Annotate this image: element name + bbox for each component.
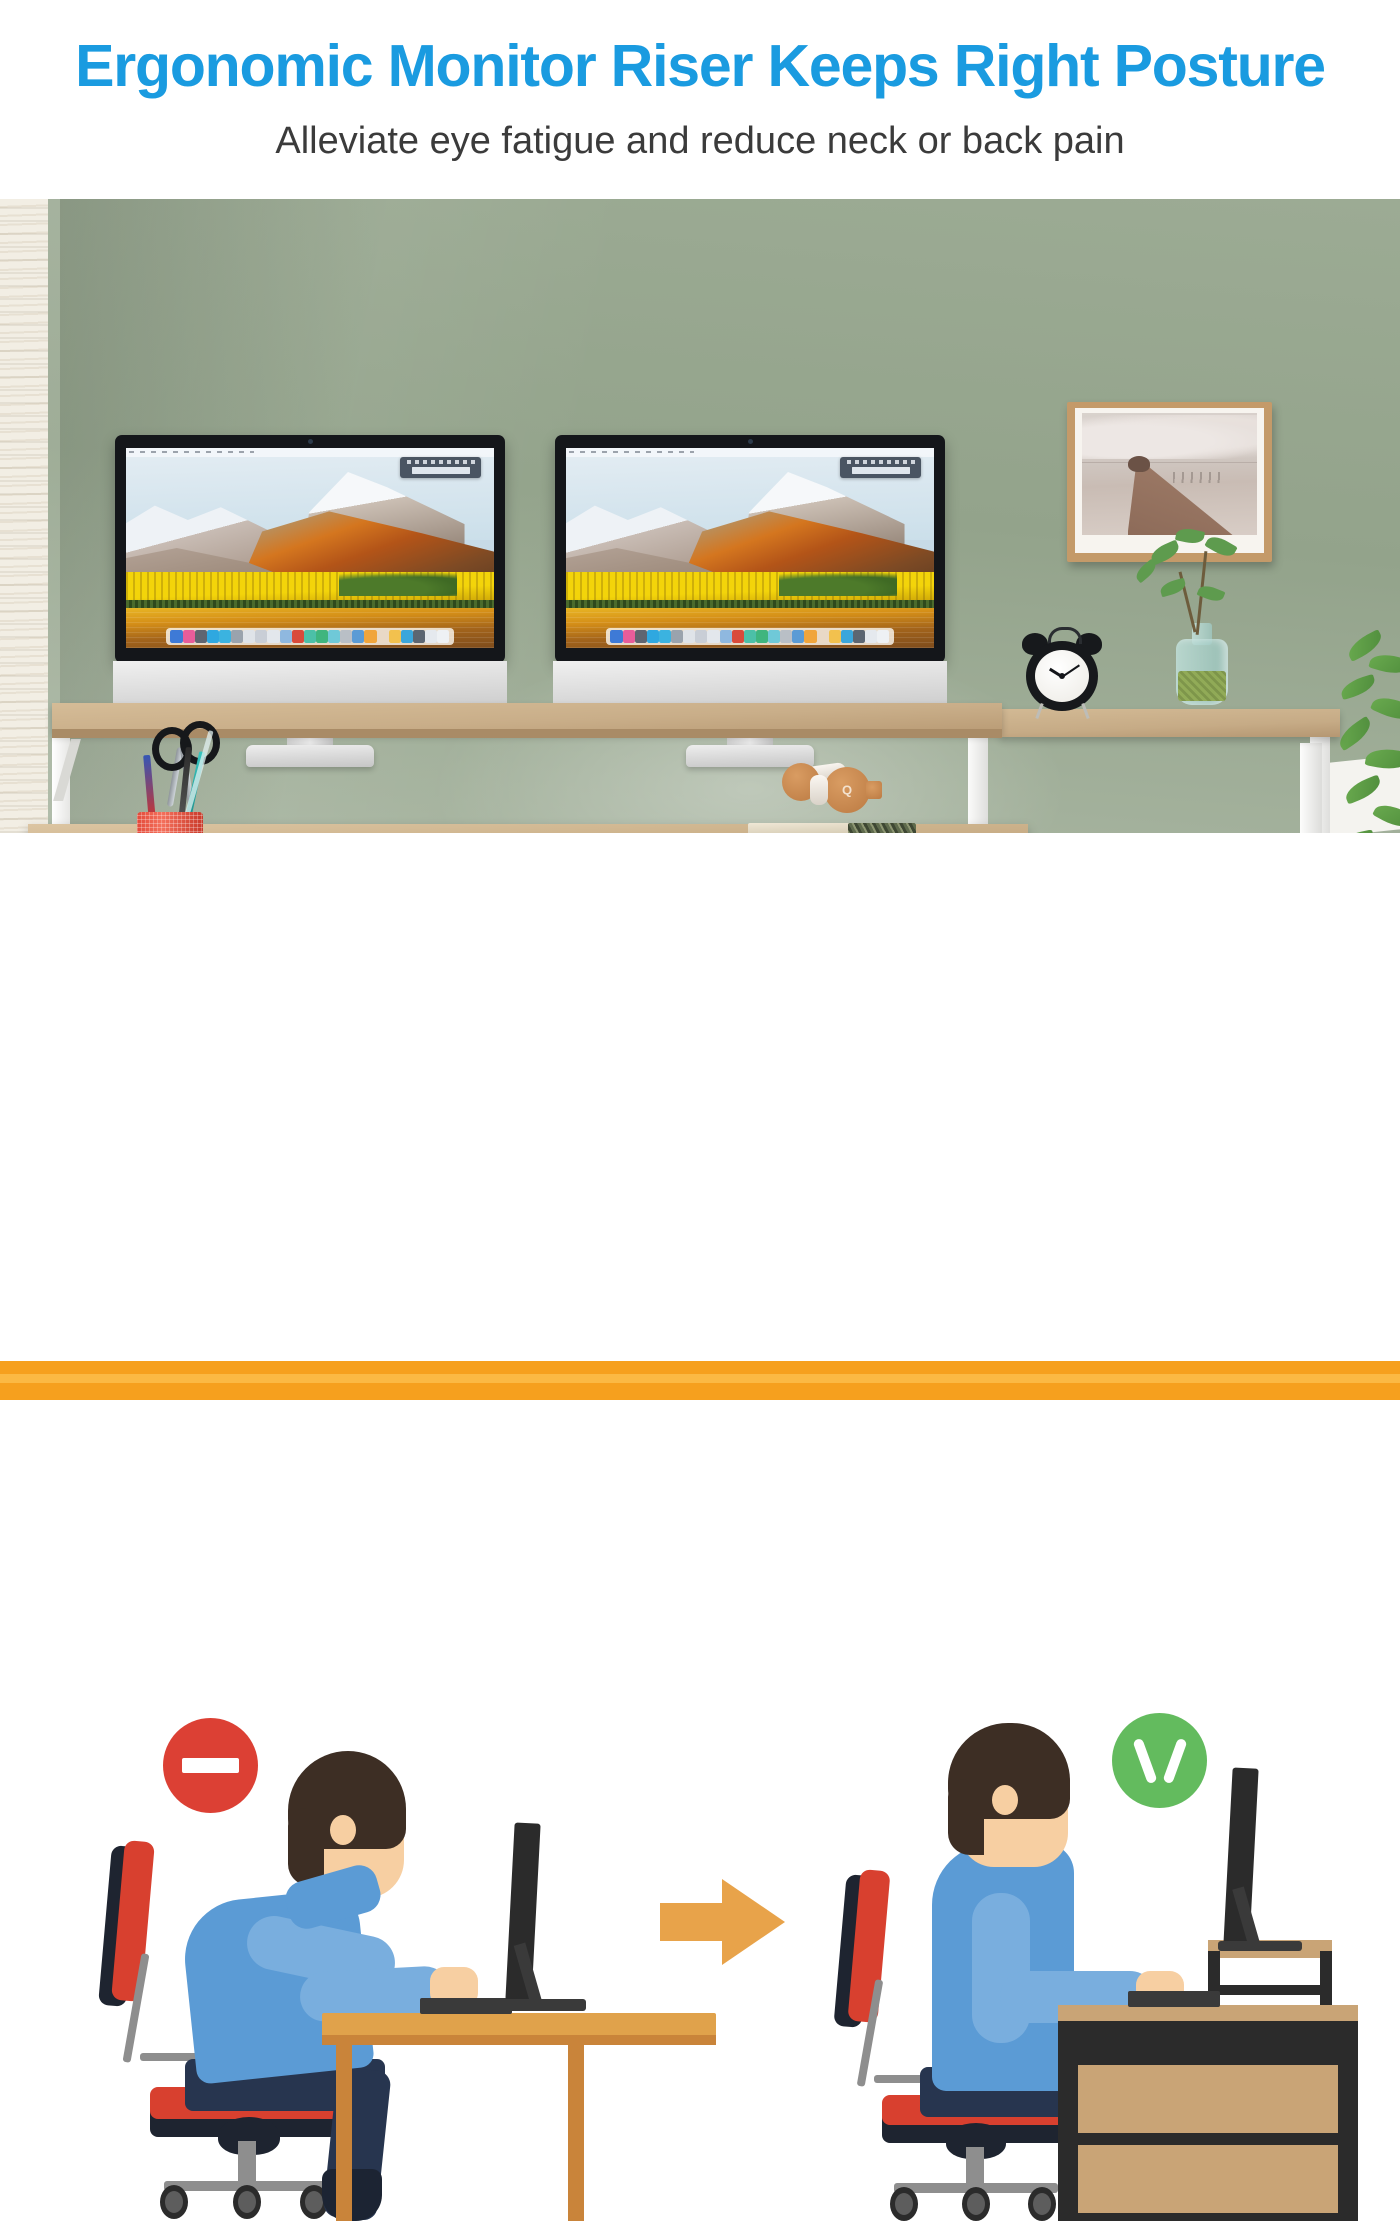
dock[interactable] xyxy=(606,628,893,645)
dock-app-icon[interactable] xyxy=(425,630,437,642)
page-subtitle: Alleviate eye fatigue and reduce neck or… xyxy=(0,120,1400,163)
dock-app-icon[interactable] xyxy=(732,630,744,642)
wall-art-frame xyxy=(1067,402,1272,562)
desktop-wallpaper xyxy=(566,448,934,648)
dock-app-icon[interactable] xyxy=(671,630,683,642)
dock-app-icon[interactable] xyxy=(231,630,243,642)
dock-app-icon[interactable] xyxy=(255,630,267,642)
art-clouds xyxy=(1082,415,1257,459)
dock-app-icon[interactable] xyxy=(183,630,195,642)
book-marble-pattern xyxy=(848,823,916,833)
headphone-pad xyxy=(810,775,828,805)
art-horizon xyxy=(1082,462,1257,464)
dock-app-icon[interactable] xyxy=(304,630,316,642)
chair-caster xyxy=(1028,2187,1056,2221)
dock-app-icon[interactable] xyxy=(635,630,647,642)
dock-app-icon[interactable] xyxy=(817,630,829,642)
desk-edge xyxy=(322,2035,716,2045)
dock-app-icon[interactable] xyxy=(280,630,292,642)
dock-app-icon[interactable] xyxy=(707,630,719,642)
person-ear xyxy=(992,1785,1018,1815)
check-mark-icon xyxy=(1112,1713,1207,1808)
clock-face xyxy=(1035,650,1089,702)
dock-app-icon[interactable] xyxy=(853,630,865,642)
person-shoe xyxy=(322,2169,382,2221)
monitor-base xyxy=(500,1999,586,2011)
posture-comparison xyxy=(0,833,1400,1361)
menu-bar[interactable] xyxy=(126,448,494,457)
webcam-icon xyxy=(308,439,313,444)
dock-app-icon[interactable] xyxy=(316,630,328,642)
dock-app-icon[interactable] xyxy=(683,630,695,642)
wallpaper-shrubs xyxy=(339,572,457,596)
headphones: Q xyxy=(776,757,892,819)
dock-app-icon[interactable] xyxy=(865,630,877,642)
alarm-clock xyxy=(1022,627,1102,711)
dock-app-icon[interactable] xyxy=(340,630,352,642)
system-panel[interactable] xyxy=(400,457,481,478)
dock-app-icon[interactable] xyxy=(623,630,635,642)
system-panel[interactable] xyxy=(840,457,921,478)
chair-caster xyxy=(962,2187,990,2221)
book-stack: THRIFT xyxy=(748,823,916,833)
monitor-screen xyxy=(126,448,494,648)
dock-app-icon[interactable] xyxy=(401,630,413,642)
dock-app-icon[interactable] xyxy=(437,630,449,642)
cabinet-drawer-lower[interactable] xyxy=(1078,2145,1338,2213)
art-rock xyxy=(1128,456,1151,472)
riser-leg xyxy=(1300,743,1322,833)
dock[interactable] xyxy=(166,628,453,645)
footer-stripe xyxy=(0,1374,1400,1383)
chair-caster xyxy=(160,2185,188,2219)
person-ear xyxy=(330,1815,356,1845)
dock-app-icon[interactable] xyxy=(804,630,816,642)
prohibited-icon xyxy=(163,1718,258,1813)
chair-caster xyxy=(890,2187,918,2221)
dock-app-icon[interactable] xyxy=(695,630,707,642)
person-hair-back xyxy=(288,1808,324,1886)
person-hair-back xyxy=(948,1779,984,1855)
dock-app-icon[interactable] xyxy=(377,630,389,642)
desk-leg xyxy=(336,2043,352,2221)
transition-arrow-icon xyxy=(660,1879,785,1965)
dock-app-icon[interactable] xyxy=(780,630,792,642)
monitor-riser-leg xyxy=(1320,1951,1332,2011)
dock-app-icon[interactable] xyxy=(744,630,756,642)
dock-app-icon[interactable] xyxy=(364,630,376,642)
headphone-earcup-right: Q xyxy=(824,767,870,813)
dock-app-icon[interactable] xyxy=(610,630,622,642)
riser-leg xyxy=(968,733,988,833)
dock-app-icon[interactable] xyxy=(792,630,804,642)
product-infographic: Ergonomic Monitor Riser Keeps Right Post… xyxy=(0,0,1400,1400)
clock-center-pin xyxy=(1059,673,1065,679)
dock-app-icon[interactable] xyxy=(647,630,659,642)
cabinet-drawer-upper[interactable] xyxy=(1078,2065,1338,2133)
monitor-base xyxy=(1218,1941,1302,1951)
monitor-bezel xyxy=(115,435,505,663)
desk-leg xyxy=(568,2043,584,2221)
dock-app-icon[interactable] xyxy=(219,630,231,642)
dock-app-icon[interactable] xyxy=(829,630,841,642)
riser-shelf-right xyxy=(1000,709,1340,737)
menu-bar[interactable] xyxy=(566,448,934,457)
monitor-bezel xyxy=(555,435,945,663)
headphone-logo: Q xyxy=(842,783,852,798)
floor-plant xyxy=(1330,629,1400,833)
dock-app-icon[interactable] xyxy=(170,630,182,642)
art-birds xyxy=(1173,472,1226,483)
curtain xyxy=(0,199,48,833)
wallpaper-shrubs xyxy=(779,572,897,596)
dock-app-icon[interactable] xyxy=(267,630,279,642)
dock-app-icon[interactable] xyxy=(243,630,255,642)
footer-accent-bar xyxy=(0,1361,1400,1400)
dock-app-icon[interactable] xyxy=(720,630,732,642)
desktop-wallpaper xyxy=(126,448,494,648)
pen-holder xyxy=(137,812,203,833)
dock-app-icon[interactable] xyxy=(768,630,780,642)
dock-app-icon[interactable] xyxy=(207,630,219,642)
keyboard xyxy=(1128,1991,1220,2007)
keyboard xyxy=(420,1998,512,2014)
monitor-base xyxy=(246,745,374,767)
dock-app-icon[interactable] xyxy=(756,630,768,642)
product-photo: Q THRIFT EPSON xyxy=(0,199,1400,833)
wall-art-image xyxy=(1082,413,1257,535)
dock-app-icon[interactable] xyxy=(877,630,889,642)
left-monitor xyxy=(115,435,505,663)
dock-app-icon[interactable] xyxy=(389,630,401,642)
page-title: Ergonomic Monitor Riser Keeps Right Post… xyxy=(0,36,1400,98)
dock-app-icon[interactable] xyxy=(328,630,340,642)
dock-app-icon[interactable] xyxy=(659,630,671,642)
chair-caster xyxy=(233,2185,261,2219)
dock-app-icon[interactable] xyxy=(841,630,853,642)
wall-art-mat xyxy=(1075,408,1264,553)
headphone-hinge xyxy=(866,781,882,799)
dock-app-icon[interactable] xyxy=(352,630,364,642)
dock-app-icon[interactable] xyxy=(195,630,207,642)
vase-rope-wrap xyxy=(1178,671,1226,701)
header-section: Ergonomic Monitor Riser Keeps Right Post… xyxy=(0,0,1400,196)
dock-app-icon[interactable] xyxy=(413,630,425,642)
desk-surface xyxy=(322,2013,716,2037)
arrow-head xyxy=(722,1879,785,1965)
monitor-screen xyxy=(566,448,934,648)
dock-app-icon[interactable] xyxy=(292,630,304,642)
monitor-riser-rail xyxy=(1208,1985,1332,1995)
right-monitor xyxy=(555,435,945,663)
webcam-icon xyxy=(748,439,753,444)
